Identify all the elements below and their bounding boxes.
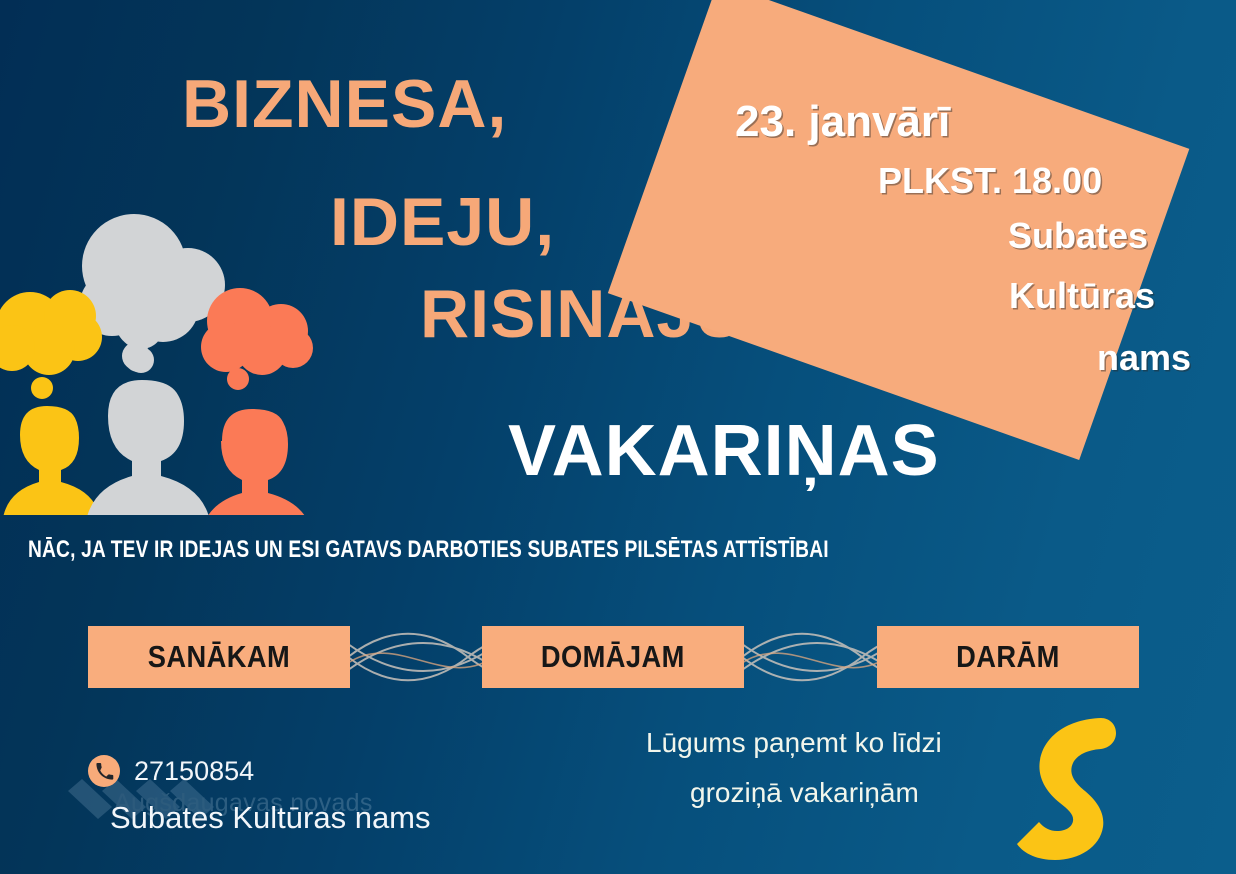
headline-line-4: VAKARIŅAS (508, 415, 940, 487)
contact-phone-row: 27150854 (88, 755, 254, 787)
step-box-domajam[interactable]: DOMĀJAM (482, 626, 744, 688)
step-label: SANĀKAM (148, 639, 291, 675)
step-label: DARĀM (956, 639, 1060, 675)
banner-date: 23. janvārī (735, 100, 950, 144)
poster-canvas: Augšdaugavas novads (0, 0, 1236, 874)
thought-bubble-yellow (0, 290, 102, 399)
step-box-daram[interactable]: DARĀM (877, 626, 1139, 688)
phone-handset-glyph (95, 762, 114, 781)
contact-venue: Subates Kultūras nams (110, 800, 431, 836)
step-label: DOMĀJAM (541, 639, 685, 675)
three-people-thought-bubbles-illustration (0, 185, 330, 515)
yellow-squiggle-decoration (975, 714, 1125, 864)
headline-line-2: IDEJU, (330, 188, 555, 256)
banner-venue-line-1: Subates (1008, 218, 1148, 254)
subtitle-text: NĀC, JA TEV IR IDEJAS UN ESI GATAVS DARB… (28, 536, 829, 564)
note-line-2: groziņā vakariņām (690, 779, 919, 807)
phone-icon (88, 755, 120, 787)
banner-venue-line-3: nams (1097, 340, 1191, 376)
phone-number: 27150854 (134, 756, 254, 787)
note-line-1: Lūgums paņemt ko līdzi (646, 729, 942, 757)
person-silhouette-coral (201, 409, 312, 515)
process-steps: SANĀKAM DOMĀJAM DARĀM (0, 608, 1236, 708)
person-silhouette-yellow (3, 406, 100, 515)
person-silhouette-gray (86, 380, 210, 515)
thought-bubble-coral (201, 288, 313, 390)
step-box-sanakam[interactable]: SANĀKAM (88, 626, 350, 688)
banner-time: PLKST. 18.00 (878, 163, 1102, 199)
banner-venue-line-2: Kultūras (1009, 278, 1155, 314)
headline-line-1: BIZNESA, (182, 70, 507, 138)
